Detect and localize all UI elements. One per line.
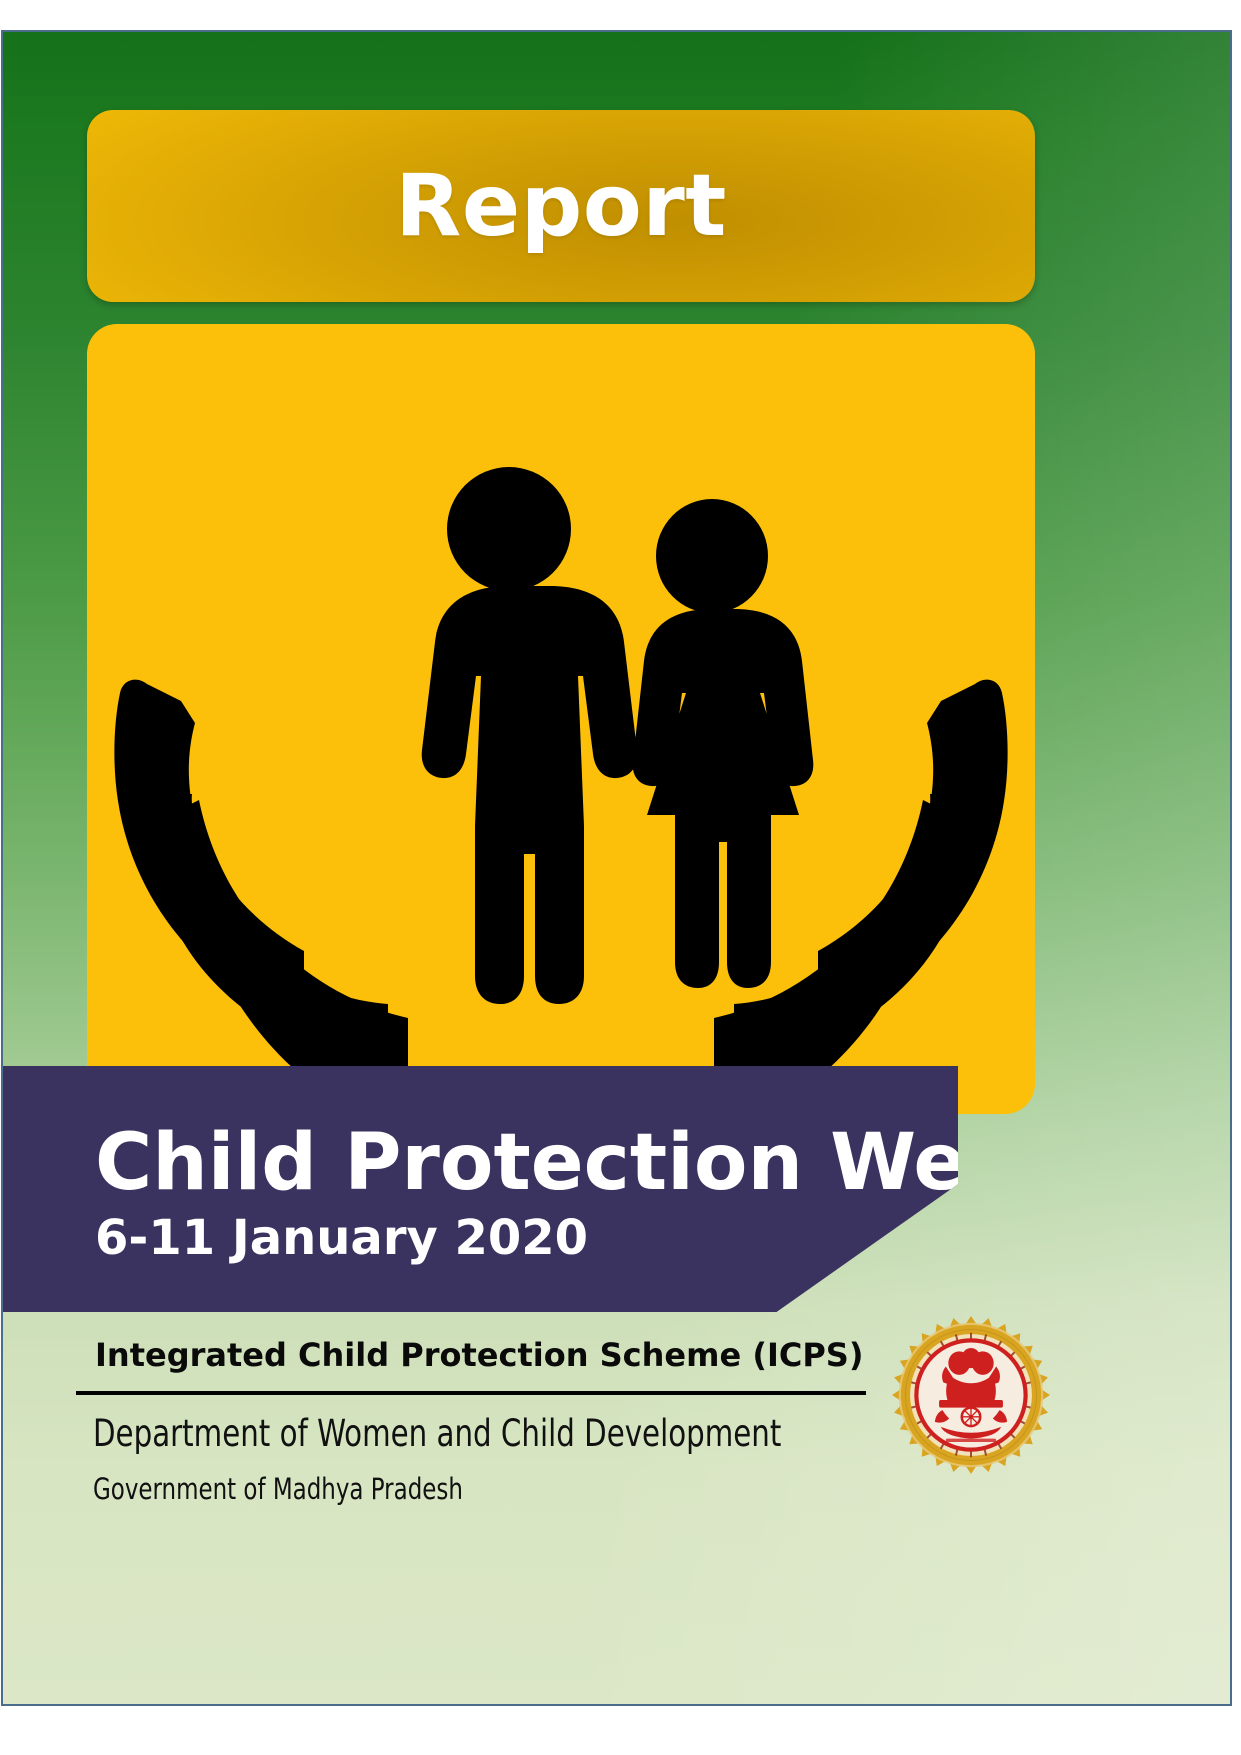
footer-divider (76, 1391, 866, 1395)
page-title: Child Protection Week (95, 1124, 1071, 1202)
illustration-card (87, 324, 1035, 1114)
hands-holding-children-icon (87, 324, 1035, 1114)
scheme-name: Integrated Child Protection Scheme (ICPS… (95, 1336, 863, 1374)
event-date-range: 6-11 January 2020 (95, 1214, 588, 1262)
poster-canvas: Report (1, 30, 1232, 1706)
department-name: Department of Women and Child Developmen… (93, 1412, 781, 1455)
report-banner: Report (87, 110, 1035, 302)
document-page: Report (0, 0, 1241, 1755)
report-banner-label: Report (395, 163, 727, 249)
government-name: Government of Madhya Pradesh (93, 1472, 463, 1506)
title-banner: Child Protection Week 6-11 January 2020 (3, 1066, 958, 1312)
madhya-pradesh-government-seal-icon (887, 1311, 1055, 1479)
